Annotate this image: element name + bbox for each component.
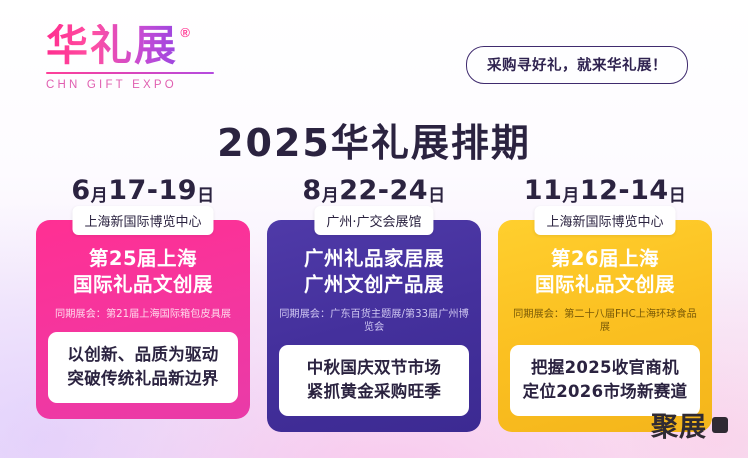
card-body: 上海新国际博览中心 第25届上海 国际礼品文创展 同期展会：第21届上海国际箱包…	[36, 220, 250, 419]
schedule-cards: 6月17-19日 上海新国际博览中心 第25届上海 国际礼品文创展 同期展会：第…	[36, 176, 712, 432]
card-title: 广州礼品家居展 广州文创产品展	[279, 246, 469, 299]
card-title-line1: 第26届上海	[510, 246, 700, 272]
slogan-pill: 采购寻好礼，就来华礼展！	[466, 46, 688, 84]
card-date-day-unit: 日	[197, 186, 215, 206]
schedule-card[interactable]: 8月22-24日 广州·广交会展馆 广州礼品家居展 广州文创产品展 同期展会：广…	[267, 176, 481, 432]
card-tagline-line2: 突破传统礼品新边界	[56, 367, 230, 391]
card-title-line2: 国际礼品文创展	[48, 272, 238, 298]
card-date-day-unit: 日	[428, 186, 446, 206]
card-date-month-unit: 月	[562, 186, 580, 206]
brand-logo: 华礼展 ® CHN GIFT EXPO	[46, 24, 226, 91]
card-tagline-line2: 紧抓黄金采购旺季	[287, 380, 461, 404]
logo-subtitle: CHN GIFT EXPO	[46, 79, 226, 91]
card-venue: 上海新国际博览中心	[534, 206, 675, 235]
logo-wordmark: 华礼展 ®	[46, 24, 178, 68]
card-title-line2: 国际礼品文创展	[510, 272, 700, 298]
card-tagline: 中秋国庆双节市场 紧抓黄金采购旺季	[279, 345, 469, 416]
card-date-days: 12-14	[580, 175, 669, 206]
card-venue: 广州·广交会展馆	[314, 206, 433, 235]
watermark-text: 聚展	[651, 405, 707, 444]
card-tagline: 以创新、品质为驱动 突破传统礼品新边界	[48, 332, 238, 403]
card-tagline-line1: 把握2025收官商机	[518, 356, 692, 380]
card-body: 上海新国际博览中心 第26届上海 国际礼品文创展 同期展会：第二十八届FHC上海…	[498, 220, 712, 432]
poster-canvas: 华礼展 ® CHN GIFT EXPO 采购寻好礼，就来华礼展！ 2025华礼展…	[0, 0, 748, 458]
card-title-line1: 广州礼品家居展	[279, 246, 469, 272]
card-title: 第26届上海 国际礼品文创展	[510, 246, 700, 299]
card-date: 11月12-14日	[498, 176, 712, 210]
card-date-month: 11	[524, 175, 563, 206]
card-tagline-line1: 中秋国庆双节市场	[287, 356, 461, 380]
card-tagline-line1: 以创新、品质为驱动	[56, 343, 230, 367]
card-title-line1: 第25届上海	[48, 246, 238, 272]
card-tagline-line2: 定位2026市场新赛道	[518, 380, 692, 404]
card-date-day-unit: 日	[669, 186, 687, 206]
registered-mark-icon: ®	[180, 26, 192, 40]
card-title: 第25届上海 国际礼品文创展	[48, 246, 238, 299]
card-title-line2: 广州文创产品展	[279, 272, 469, 298]
card-concurrent-events: 同期展会：广东百货主题展/第33届广州博览会	[279, 308, 469, 335]
card-date-month: 6	[71, 175, 90, 206]
watermark: 聚展	[651, 405, 728, 444]
schedule-card[interactable]: 6月17-19日 上海新国际博览中心 第25届上海 国际礼品文创展 同期展会：第…	[36, 176, 250, 432]
card-date-days: 17-19	[108, 175, 197, 206]
card-date-month: 8	[302, 175, 321, 206]
card-date-days: 22-24	[339, 175, 428, 206]
card-concurrent-events: 同期展会：第21届上海国际箱包皮具展	[48, 308, 238, 321]
card-date: 6月17-19日	[36, 176, 250, 210]
card-date: 8月22-24日	[267, 176, 481, 210]
card-concurrent-events: 同期展会：第二十八届FHC上海环球食品展	[510, 308, 700, 335]
watermark-badge-icon	[712, 417, 728, 433]
schedule-card[interactable]: 11月12-14日 上海新国际博览中心 第26届上海 国际礼品文创展 同期展会：…	[498, 176, 712, 432]
card-date-month-unit: 月	[91, 186, 109, 206]
page-title: 2025华礼展排期	[0, 112, 748, 167]
card-body: 广州·广交会展馆 广州礼品家居展 广州文创产品展 同期展会：广东百货主题展/第3…	[267, 220, 481, 432]
logo-text: 华礼展	[46, 21, 178, 70]
logo-divider	[46, 72, 214, 74]
card-venue: 上海新国际博览中心	[72, 206, 213, 235]
card-date-month-unit: 月	[322, 186, 340, 206]
